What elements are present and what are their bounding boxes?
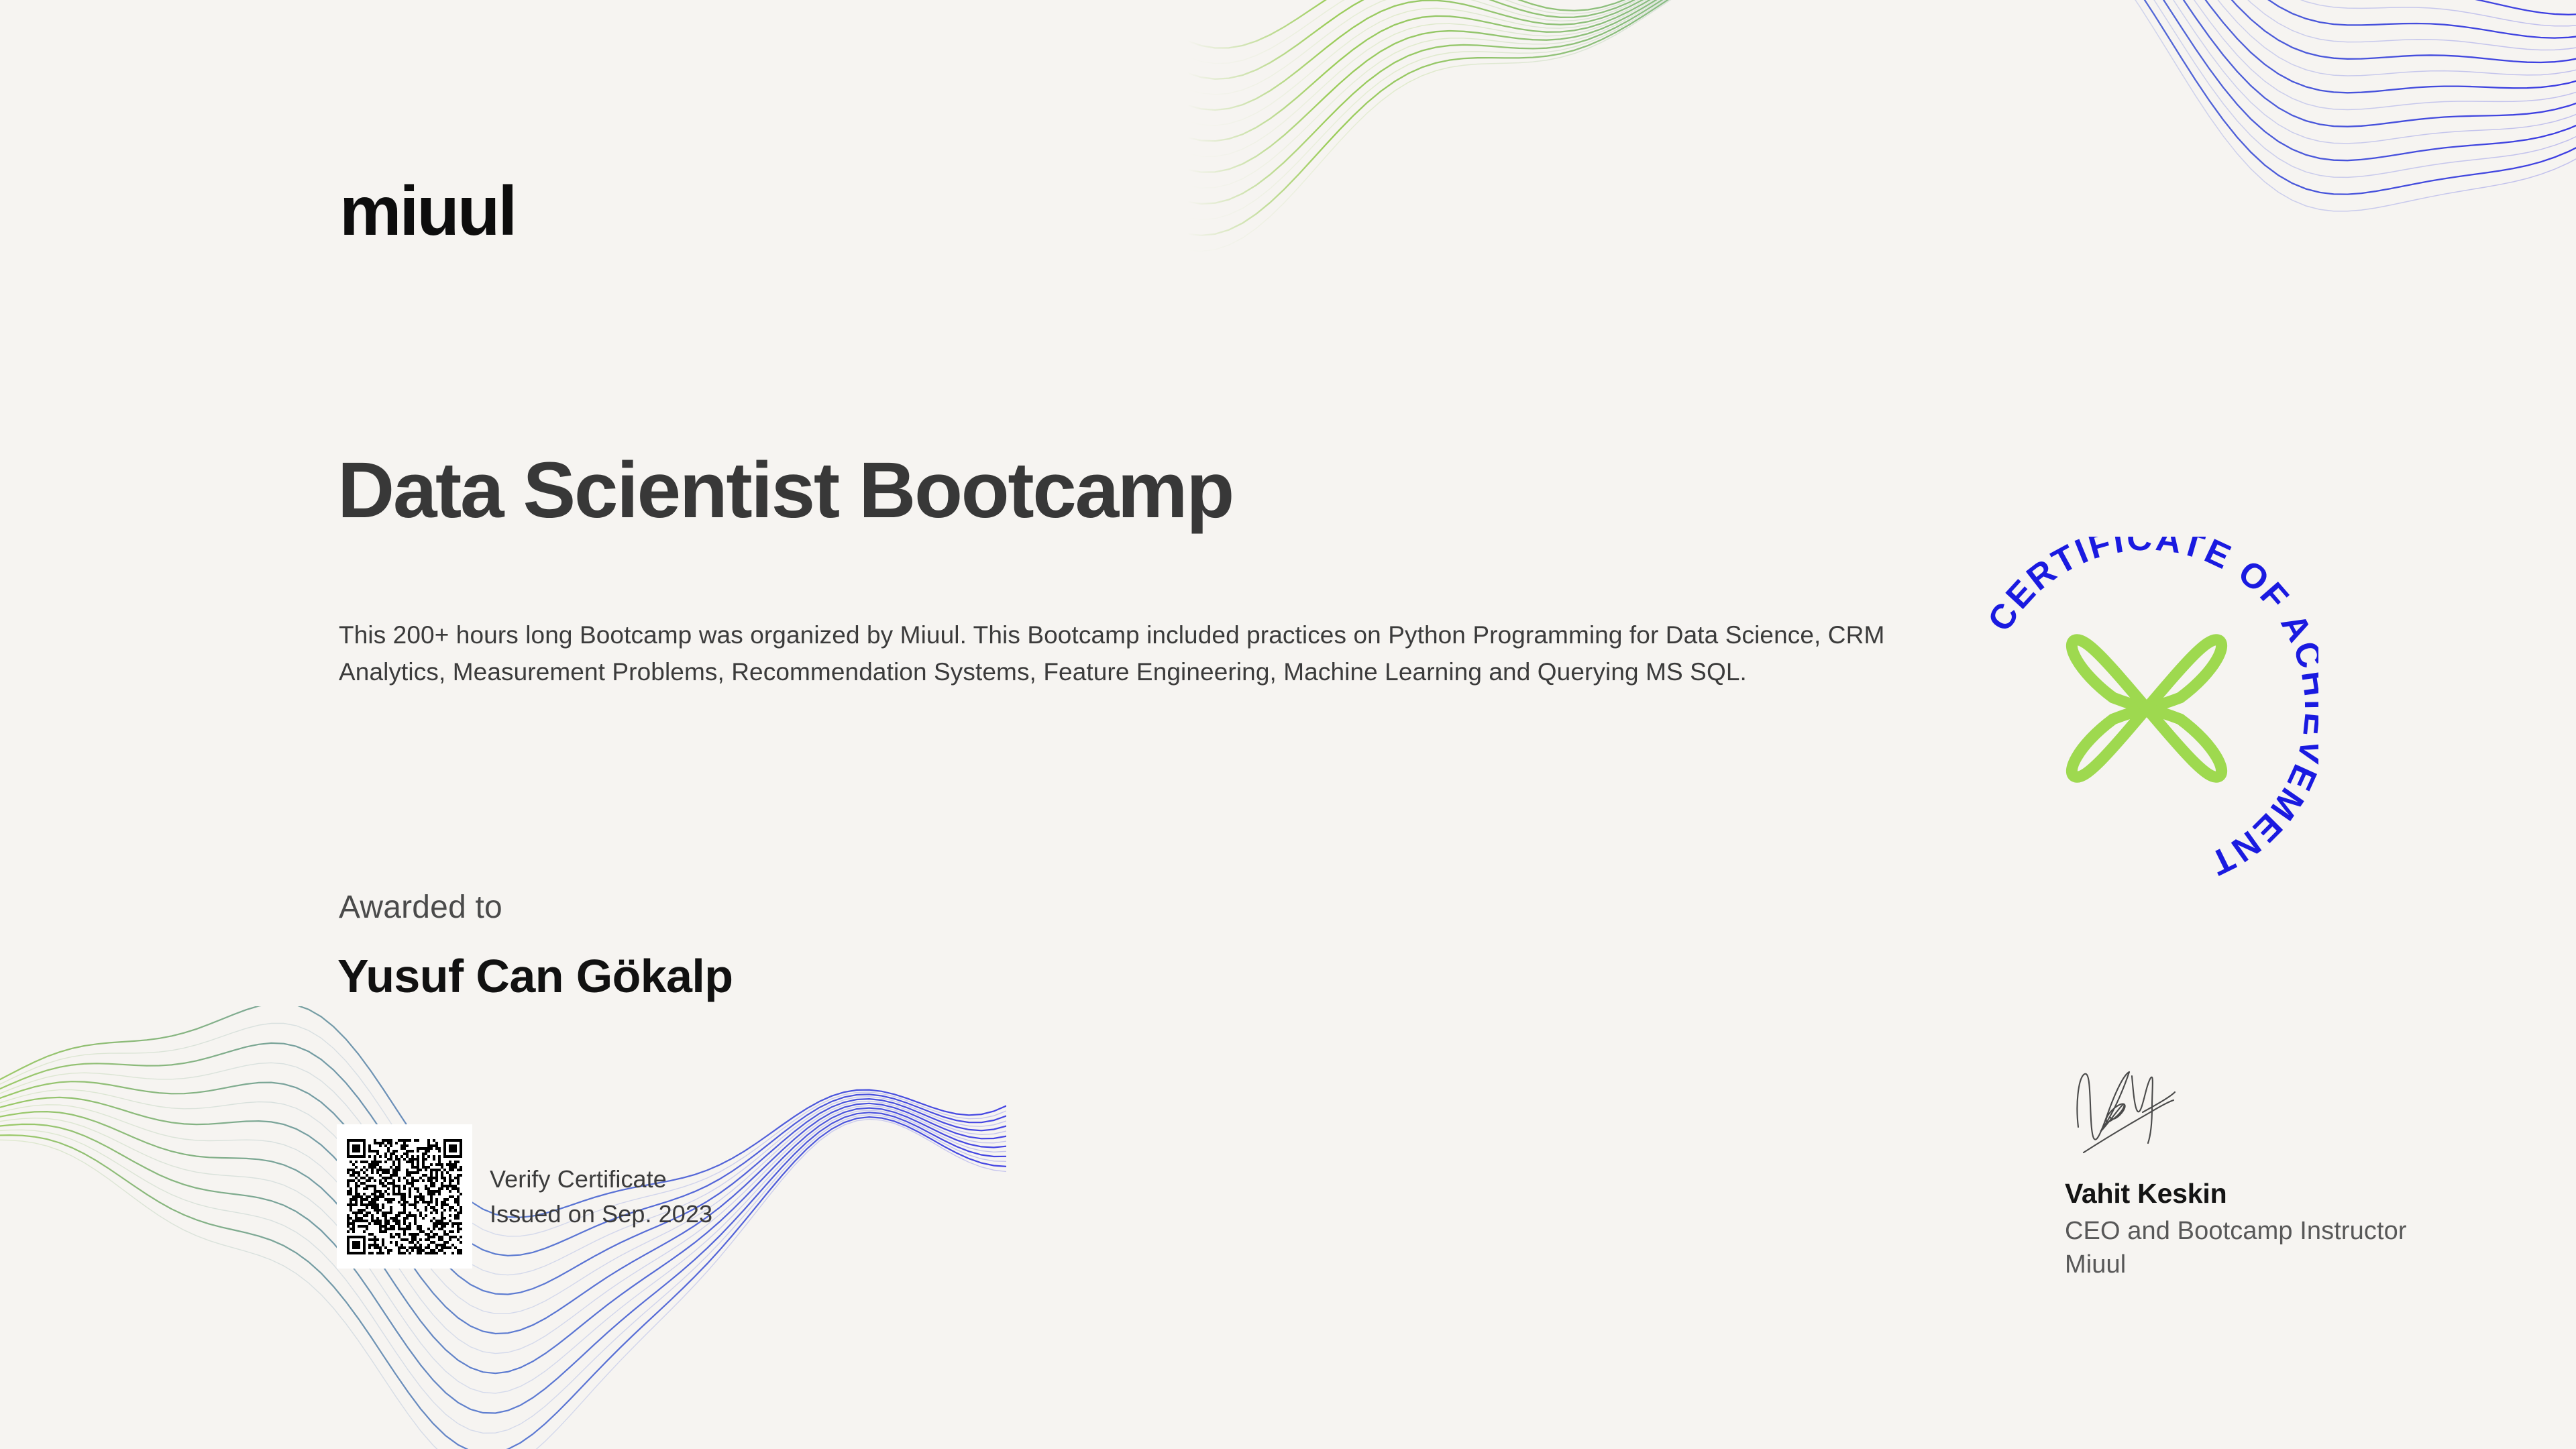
verify-certificate-block[interactable]: Verify Certificate Issued on Sep. 2023	[337, 1124, 712, 1269]
mesh-line	[1187, 0, 2576, 204]
mesh-line	[1187, 0, 2576, 141]
miuul-logo: miuul	[339, 173, 621, 254]
awarded-to-label: Awarded to	[339, 889, 502, 926]
certificate-page: miuul Data Scientist Bootcamp This 200+ …	[0, 0, 2576, 1449]
qr-code-card[interactable]	[337, 1124, 472, 1269]
mesh-line	[1187, 0, 2576, 172]
mesh-line	[1187, 0, 2576, 156]
certificate-description: This 200+ hours long Bootcamp was organi…	[339, 617, 1895, 691]
qr-code-icon[interactable]	[347, 1139, 462, 1254]
miuul-emblem-icon	[2072, 640, 2221, 777]
verify-line-2: Issued on Sep. 2023	[490, 1197, 712, 1231]
verify-certificate-text: Verify Certificate Issued on Sep. 2023	[490, 1162, 712, 1230]
mesh-line	[1187, 0, 2576, 219]
signer-organization: Miuul	[2065, 1248, 2481, 1281]
mesh-line	[1187, 0, 2576, 64]
signer-role: CEO and Bootcamp Instructor	[2065, 1214, 2481, 1248]
signature-block: Vahit Keskin CEO and Bootcamp Instructor…	[2065, 1065, 2481, 1281]
mesh-line	[1187, 0, 2576, 235]
signer-name: Vahit Keskin	[2065, 1178, 2481, 1210]
mesh-line	[1187, 0, 2576, 110]
mesh-line	[1187, 0, 2576, 188]
mesh-line	[1187, 0, 2576, 48]
recipient-name: Yusuf Can Gökalp	[337, 949, 733, 1003]
mesh-line	[1187, 0, 2576, 125]
certificate-title: Data Scientist Bootcamp	[337, 451, 1233, 530]
mesh-line	[1187, 0, 2576, 79]
handwritten-signature-icon	[2068, 1065, 2262, 1166]
decorative-mesh-top-right	[1187, 0, 2576, 402]
mesh-line	[1187, 0, 2576, 95]
miuul-logo-text: miuul	[339, 173, 515, 250]
certificate-seal-badge: CERTIFICATE OF ACHIEVEMENT	[1975, 537, 2318, 880]
mesh-line	[1187, 0, 2576, 252]
verify-line-1: Verify Certificate	[490, 1162, 712, 1196]
